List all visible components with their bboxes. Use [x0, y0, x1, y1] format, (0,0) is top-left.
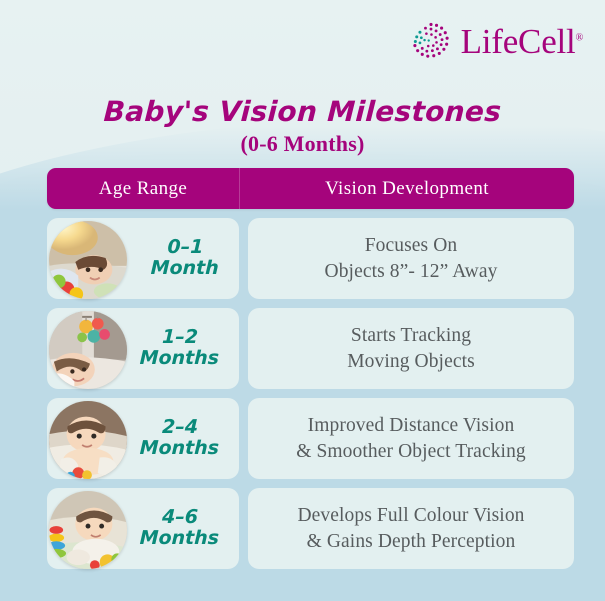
vision-development-cell: Improved Distance Vision & Smoother Obje…: [248, 398, 574, 479]
registered-trademark-mark: ®: [576, 32, 583, 43]
baby-with-stacking-rings-photo: [49, 491, 127, 569]
age-range-cell: 2–4 Months: [47, 398, 239, 479]
table-row: 2–4 Months Improved Distance Vision & Sm…: [47, 398, 574, 479]
page-subtitle: (0-6 Months): [0, 131, 605, 157]
age-range-label: 4–6 Months: [139, 507, 220, 550]
vision-development-cell: Focuses On Objects 8”- 12” Away: [248, 218, 574, 299]
table-header-row: Age Range Vision Development: [47, 168, 574, 209]
vision-development-text: Focuses On Objects 8”- 12” Away: [325, 233, 498, 284]
title-block: Baby's Vision Milestones (0-6 Months): [0, 97, 605, 157]
vision-development-text: Develops Full Colour Vision & Gains Dept…: [297, 503, 524, 554]
age-range-cell: 0–1 Month: [47, 218, 239, 299]
baby-lying-with-toy-photo: [49, 221, 127, 299]
age-range-label: 0–1 Month: [150, 237, 220, 280]
vision-development-cell: Starts Tracking Moving Objects: [248, 308, 574, 389]
age-range-cell: 1–2 Months: [47, 308, 239, 389]
page-title: Baby's Vision Milestones: [0, 97, 605, 126]
table-row: 1–2 Months Starts Tracking Moving Object…: [47, 308, 574, 389]
age-range-label: 2–4 Months: [139, 417, 220, 460]
vision-development-text: Improved Distance Vision & Smoother Obje…: [296, 413, 526, 464]
table-body: 0–1 Month Focuses On Objects 8”- 12” Awa…: [47, 218, 574, 569]
vision-development-cell: Develops Full Colour Vision & Gains Dept…: [248, 488, 574, 569]
lifecell-spiral-icon: [408, 18, 454, 64]
milestones-table: Age Range Vision Development: [47, 168, 574, 578]
vision-development-text: Starts Tracking Moving Objects: [347, 323, 475, 374]
brand-logo: LifeCell®: [408, 18, 583, 64]
infographic-poster: LifeCell® Baby's Vision Milestones (0-6 …: [0, 0, 605, 601]
table-row: 0–1 Month Focuses On Objects 8”- 12” Awa…: [47, 218, 574, 299]
age-range-label: 1–2 Months: [139, 327, 220, 370]
table-row: 4–6 Months Develops Full Colour Vision &…: [47, 488, 574, 569]
age-range-cell: 4–6 Months: [47, 488, 239, 569]
baby-looking-at-mobile-photo: [49, 311, 127, 389]
brand-name: LifeCell®: [461, 24, 583, 59]
baby-tummy-time-photo: [49, 401, 127, 479]
column-header-vision-development: Vision Development: [239, 168, 574, 209]
column-header-age-range: Age Range: [47, 168, 239, 209]
